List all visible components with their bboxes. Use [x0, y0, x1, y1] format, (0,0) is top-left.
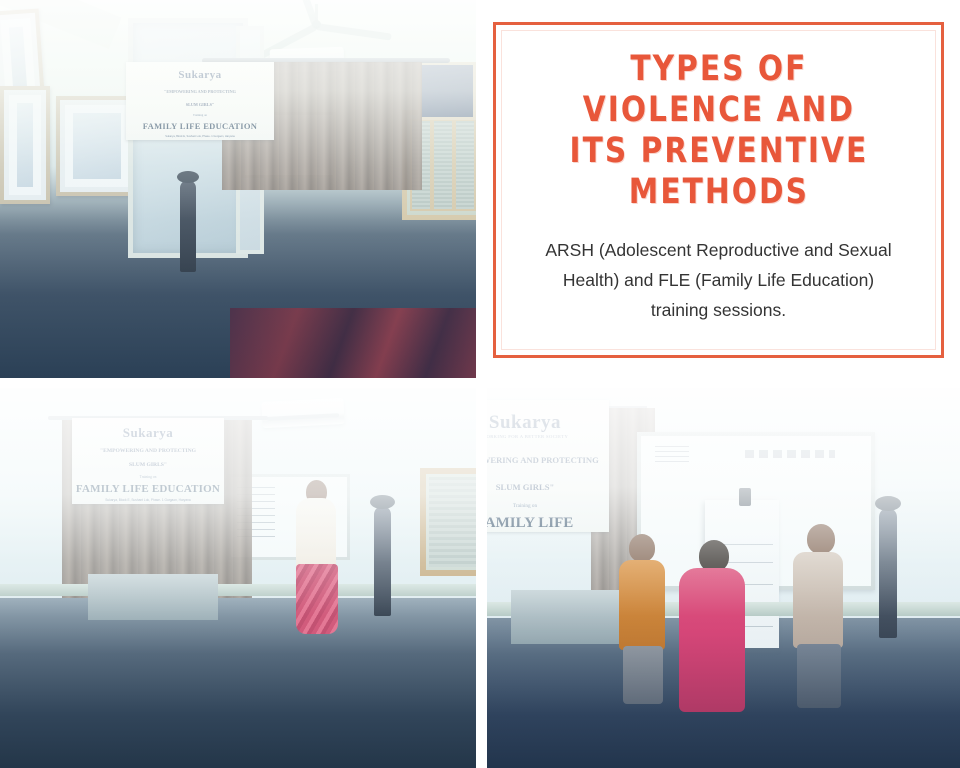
classroom-scene-bottom-right: Sukarya WORKING FOR A BETTER SOCIETY "EM…: [487, 388, 960, 768]
sukarya-banner: Sukarya WORKING FOR A BETTER SOCIETY "EM…: [487, 400, 609, 532]
page-title: TYPES OFVIOLENCE ANDITS PREVENTIVEMETHOD…: [569, 49, 868, 213]
banner-training-label: Training on: [487, 503, 609, 509]
air-conditioner-unit: [261, 398, 344, 428]
title-panel: TYPES OFVIOLENCE ANDITS PREVENTIVEMETHOD…: [476, 0, 960, 380]
banner-address: Sukarya, Block E, Sushant Lok, Phase- 1 …: [126, 135, 274, 138]
sukarya-banner: Sukarya "EMPOWERING AND PROTECTING SLUM …: [72, 418, 224, 504]
photo-top-left: Sukarya "EMPOWERING AND PROTECTING SLUM …: [0, 0, 476, 378]
banner-org-name: Sukarya: [487, 412, 609, 434]
banner-slogan-line2: SLUM GIRLS": [72, 462, 224, 469]
wall-ledge: [0, 584, 476, 596]
banner-slogan-line1: "EMPOWERING AND PROTECTING: [487, 455, 609, 466]
banner-program: FAMILY LIFE EDUCATION: [72, 483, 224, 495]
title-card: TYPES OFVIOLENCE ANDITS PREVENTIVEMETHOD…: [493, 22, 944, 358]
banner-address: Sukarya, Block E, Sushant Lok, Phase- 1 …: [72, 498, 224, 502]
photo-bottom-right: Sukarya WORKING FOR A BETTER SOCIETY "EM…: [487, 388, 960, 768]
banner-training-label: Training on: [72, 475, 224, 479]
banner-org-name: Sukarya: [72, 425, 224, 441]
page-title-line-4: METHODS: [569, 172, 868, 213]
framed-picture: [418, 62, 476, 120]
presenting-girl-right: [787, 524, 853, 708]
page-title-line-3: ITS PREVENTIVE: [569, 131, 868, 172]
banner-slogan-line1: "EMPOWERING AND PROTECTING: [72, 448, 224, 455]
banner-slogan-line2: SLUM GIRLS": [487, 482, 609, 493]
collage-gutter-horizontal: [0, 378, 487, 388]
floor-mat: [230, 308, 476, 378]
decorative-pillar-lamp: [374, 506, 391, 616]
whiteboard-heading: [745, 450, 835, 458]
classroom-scene-top-left: Sukarya "EMPOWERING AND PROTECTING SLUM …: [0, 0, 476, 378]
sukarya-banner: Sukarya "EMPOWERING AND PROTECTING SLUM …: [126, 62, 274, 140]
classroom-scene-bottom-left: Sukarya "EMPOWERING AND PROTECTING SLUM …: [0, 388, 476, 768]
table: [88, 574, 218, 620]
banner-org-tagline: WORKING FOR A BETTER SOCIETY: [487, 434, 609, 439]
photo-bottom-left: Sukarya "EMPOWERING AND PROTECTING SLUM …: [0, 388, 476, 768]
page-subtitle: ARSH (Adolescent Reproductive and Sexual…: [533, 235, 905, 325]
trainer-torso: [296, 498, 336, 572]
banner-slogan-line2: SLUM GIRLS": [126, 102, 274, 107]
page-title-line-1: TYPES OF: [569, 49, 868, 90]
wall-cabinet: [420, 468, 476, 576]
wall-picture-frame: [0, 86, 50, 204]
ceiling-fan-hub: [312, 20, 321, 29]
flipchart-clip: [739, 488, 751, 506]
banner-slogan-line1: "EMPOWERING AND PROTECTING: [126, 89, 274, 94]
presenting-girl-center: [677, 540, 749, 712]
decorative-pillar-lamp: [180, 180, 196, 272]
presenting-girl-left: [611, 534, 671, 704]
poster-collage: Sukarya "EMPOWERING AND PROTECTING SLUM …: [0, 0, 960, 768]
title-card-inner: TYPES OFVIOLENCE ANDITS PREVENTIVEMETHOD…: [501, 30, 936, 350]
trainer-skirt: [296, 564, 338, 634]
banner-org-name: Sukarya: [126, 69, 274, 81]
collage-gutter-vertical: [476, 378, 487, 768]
page-title-line-2: VIOLENCE AND: [569, 90, 868, 131]
banner-training-label: Training on: [126, 113, 274, 117]
decorative-pillar-lamp: [879, 508, 897, 638]
banner-program: FAMILY LIFE EDUCATION: [487, 515, 609, 532]
banner-program: FAMILY LIFE EDUCATION: [126, 121, 274, 131]
whiteboard-writing: [655, 446, 689, 462]
